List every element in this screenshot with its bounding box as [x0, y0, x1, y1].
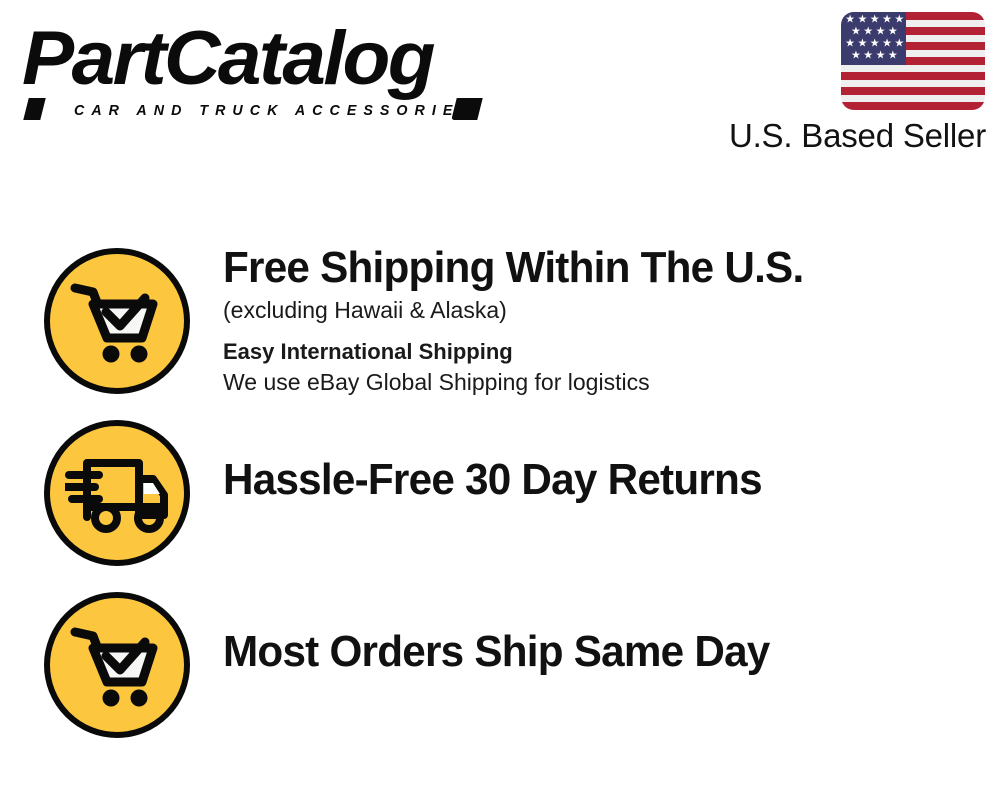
flag-star-icon: ★: [894, 14, 904, 25]
feature-row: Most Orders Ship Same Day: [0, 584, 1000, 756]
feature-list: Free Shipping Within The U.S. (excluding…: [0, 240, 1000, 756]
flag-star-icon: ★: [882, 14, 892, 25]
flag-star-icon: ★: [894, 39, 904, 50]
feature-heading: Most Orders Ship Same Day: [223, 626, 933, 678]
feature-sub-detail: We use eBay Global Shipping for logistic…: [223, 367, 963, 398]
brand-logo[interactable]: PartCatalog CAR AND TRUCK ACCESSORIES: [22, 18, 492, 116]
us-based-seller-label: U.S. Based Seller: [724, 117, 986, 155]
flag-graphic: ★ ★ ★ ★ ★ ★ ★ ★ ★ ★ ★ ★ ★ ★ ★ ★ ★ ★: [841, 12, 985, 110]
flag-canton: ★ ★ ★ ★ ★ ★ ★ ★ ★ ★ ★ ★ ★ ★ ★ ★ ★ ★: [841, 12, 906, 65]
flag-star-icon: ★: [870, 39, 880, 50]
feature-heading: Hassle-Free 30 Day Returns: [223, 454, 933, 506]
feature-text-block: Hassle-Free 30 Day Returns: [223, 454, 963, 506]
delivery-truck-icon: [44, 420, 190, 566]
us-flag-icon: ★ ★ ★ ★ ★ ★ ★ ★ ★ ★ ★ ★ ★ ★ ★ ★ ★ ★: [841, 12, 985, 110]
flag-star-icon: ★: [888, 51, 898, 62]
flag-star-icon: ★: [863, 51, 873, 62]
flag-star-icon: ★: [876, 27, 886, 38]
logo-accent-left-icon: [23, 98, 45, 120]
logo-accent-right-icon: [451, 98, 482, 120]
flag-stripe: [841, 102, 985, 110]
flag-star-icon: ★: [845, 14, 855, 25]
feature-row: Free Shipping Within The U.S. (excluding…: [0, 240, 1000, 412]
flag-star-icon: ★: [845, 39, 855, 50]
flag-star-icon: ★: [857, 39, 867, 50]
page-header: PartCatalog CAR AND TRUCK ACCESSORIES ★ …: [0, 0, 1000, 175]
flag-star-icon: ★: [851, 27, 861, 38]
brand-wordmark: PartCatalog: [22, 18, 433, 100]
feature-sub-bold: Easy International Shipping: [223, 336, 963, 367]
shopping-cart-check-icon: [44, 592, 190, 738]
flag-star-icon: ★: [876, 51, 886, 62]
flag-star-icon: ★: [857, 14, 867, 25]
feature-subnote: (excluding Hawaii & Alaska): [223, 295, 963, 326]
feature-text-block: Most Orders Ship Same Day: [223, 626, 963, 678]
brand-tagline: CAR AND TRUCK ACCESSORIES: [74, 102, 476, 119]
flag-star-icon: ★: [863, 27, 873, 38]
feature-row: Hassle-Free 30 Day Returns: [0, 412, 1000, 584]
flag-star-icon: ★: [870, 14, 880, 25]
feature-heading: Free Shipping Within The U.S.: [223, 242, 933, 294]
flag-stripe: [841, 87, 985, 95]
flag-star-icon: ★: [851, 51, 861, 62]
flag-star-icon: ★: [888, 27, 898, 38]
flag-star-icon: ★: [882, 39, 892, 50]
shopping-cart-check-icon: [44, 248, 190, 394]
flag-stripe: [841, 72, 985, 80]
feature-text-block: Free Shipping Within The U.S. (excluding…: [223, 242, 963, 398]
